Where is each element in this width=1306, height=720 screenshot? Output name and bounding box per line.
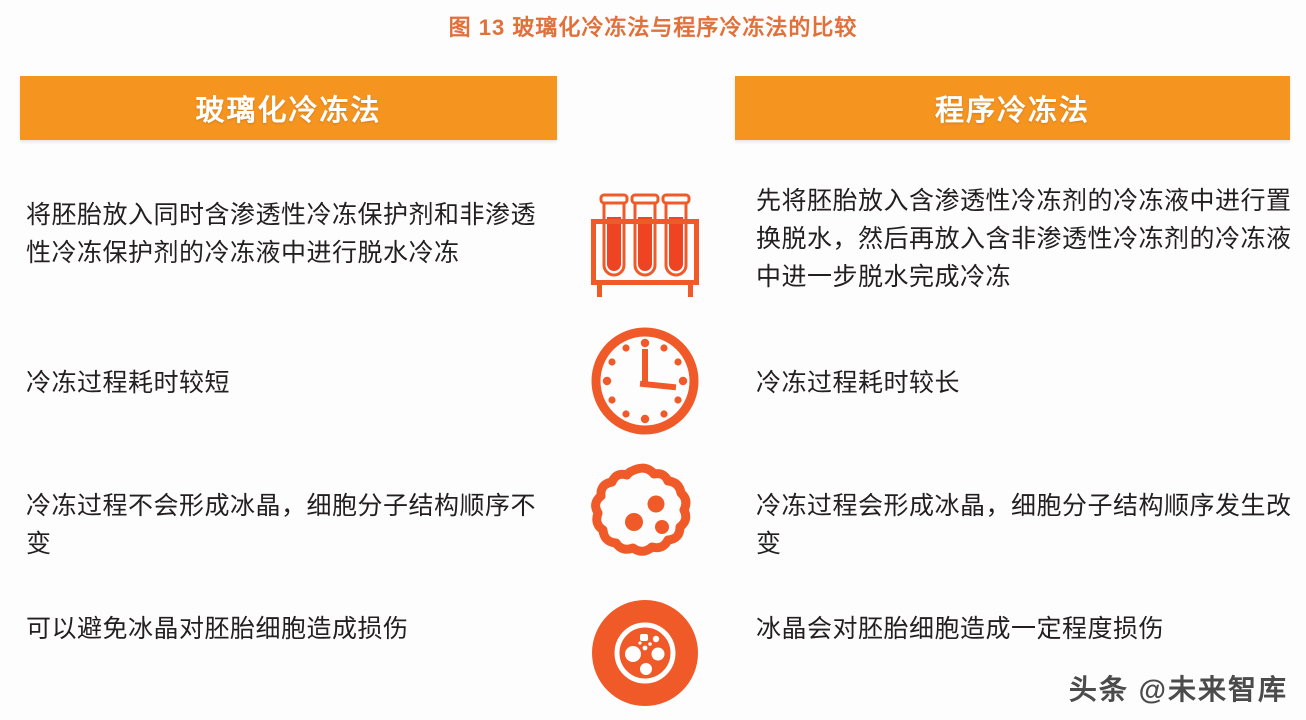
right-cell-2: 冷冻过程耗时较长 — [756, 364, 1296, 402]
test-tube-rack-icon — [583, 187, 707, 307]
column-header-left: 玻璃化冷冻法 — [20, 76, 557, 140]
left-cell-2: 冷冻过程耗时较短 — [26, 364, 554, 402]
cell-filled-icon — [588, 596, 702, 710]
right-cell-1: 先将胚胎放入含渗透性冷冻剂的冷冻液中进行置换脱水，然后再放入含非渗透性冷冻剂的冷… — [756, 182, 1296, 296]
page-title: 图 13 玻璃化冷冻法与程序冷冻法的比较 — [0, 10, 1306, 42]
cell-outline-icon — [586, 459, 704, 571]
watermark: 头条 @未来智库 — [1069, 668, 1288, 708]
left-cell-3: 冷冻过程不会形成冰晶，细胞分子结构顺序不变 — [26, 487, 554, 563]
clock-icon — [589, 325, 701, 437]
icon-slot-4 — [580, 590, 710, 716]
icon-slot-1 — [580, 184, 710, 310]
icon-slot-2 — [580, 318, 710, 444]
column-header-right-label: 程序冷冻法 — [935, 87, 1090, 129]
column-header-right: 程序冷冻法 — [735, 76, 1290, 140]
left-cell-1: 将胚胎放入同时含渗透性冷冻保护剂和非渗透性冷冻保护剂的冷冻液中进行脱水冷冻 — [26, 196, 554, 272]
right-cell-4: 冰晶会对胚胎细胞造成一定程度损伤 — [756, 610, 1296, 648]
column-header-left-label: 玻璃化冷冻法 — [195, 87, 381, 129]
left-cell-4: 可以避免冰晶对胚胎细胞造成损伤 — [26, 610, 554, 648]
icon-slot-3 — [580, 452, 710, 578]
right-cell-3: 冷冻过程会形成冰晶，细胞分子结构顺序发生改变 — [756, 487, 1296, 563]
